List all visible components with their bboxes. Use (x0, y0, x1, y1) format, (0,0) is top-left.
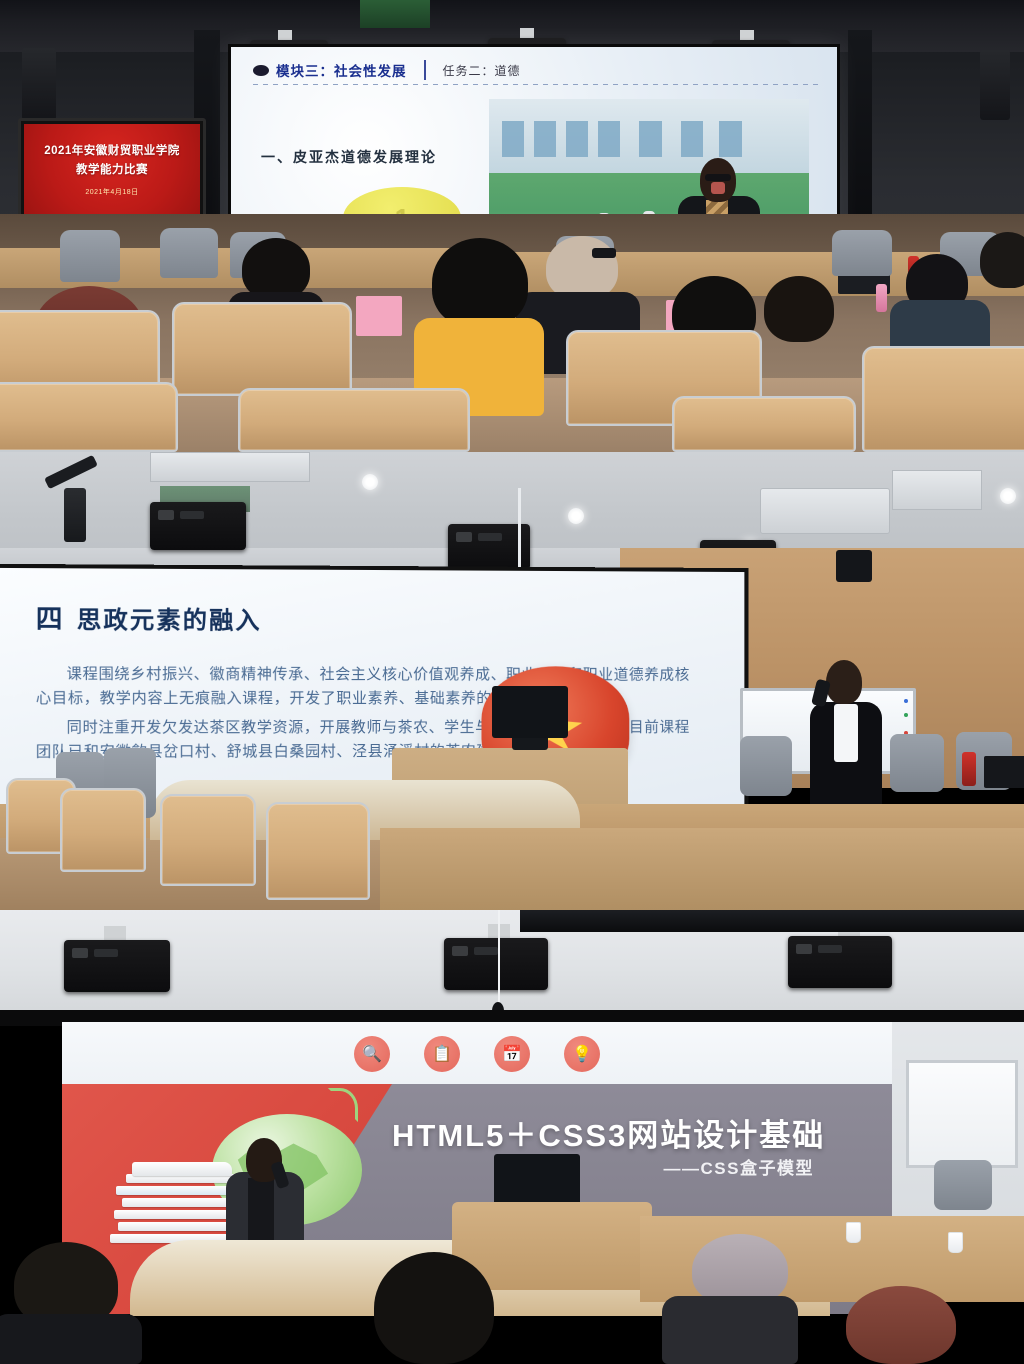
panel2-wall-speaker (836, 550, 872, 582)
slide1-task-subtitle: 任务二：道德 (443, 62, 521, 79)
panel3-ceiling-screen-edge (520, 910, 1024, 932)
photo-window (639, 121, 661, 156)
panel3-attendee-head-red-hair (846, 1286, 956, 1364)
magnifier-icon: 🔍 (354, 1036, 390, 1072)
photo-window (719, 121, 741, 156)
panel2-front-desk (380, 828, 1024, 910)
panel1-chair-gray (60, 230, 120, 282)
wall-pillar-right (848, 30, 872, 220)
slide2-heading-number: 四 (36, 599, 65, 637)
whiteboard-marker-dot (904, 699, 908, 703)
panel2-monitor (492, 686, 568, 738)
panel3-ceiling-projector-right (788, 936, 892, 988)
panel3-ceiling-projector-left (64, 940, 170, 992)
panel1-attendee-head (764, 276, 834, 342)
ac-vent-left (150, 452, 310, 482)
panel2-seat-wood (266, 802, 370, 900)
panel-top-social-development: 模块三：社会性发展 任务二：道德 一、皮亚杰道德发展理论 1 (0, 0, 1024, 452)
slide1-dashed-rule (253, 84, 821, 85)
wall-speaker-right (980, 50, 1010, 120)
photo-window (598, 121, 620, 156)
ceiling-downlight (1000, 488, 1016, 504)
panel1-competition-banner: 2021年安徽财贸职业学院 教学能力比赛 2021年4月18日 (18, 118, 206, 220)
panel1-attendee-glasses (592, 248, 616, 258)
slide3-icon-row: 🔍 📋 📅 💡 (62, 1022, 892, 1086)
panel3-attendee-head-long-hair (374, 1252, 494, 1364)
slide1-header: 模块三：社会性发展 任务二：道德 (253, 55, 821, 85)
panel2-seat-wood (160, 794, 256, 886)
slide2-heading-title: 思政元素的融入 (77, 600, 262, 636)
panel3-microphone-cable (498, 910, 500, 1006)
calendar-icon: 📅 (494, 1036, 530, 1072)
slide1-divider (424, 60, 426, 80)
panel2-presenter-shirt (834, 704, 858, 762)
wall-speaker-left (22, 48, 56, 120)
panel1-seat (238, 388, 470, 452)
slide1-section-heading: 一、皮亚杰道德发展理论 (261, 147, 437, 167)
photo-window (534, 121, 556, 156)
panel1-attendee-head-bald (546, 236, 618, 300)
panel2-seat-wood (60, 788, 146, 872)
whiteboard-marker-dot (904, 713, 908, 717)
panel3-paper-cup (948, 1232, 963, 1253)
ceiling-downlight (568, 508, 584, 524)
panel-middle-ideological-elements: 四 思政元素的融入 课程围绕乡村振兴、徽商精神传承、社会主义核心价值观养成、职业… (0, 452, 1024, 910)
panel1-seat (172, 302, 352, 396)
slide1-bullet-icon (253, 65, 269, 76)
panel2-chair (890, 734, 944, 792)
panel1-placard-left (356, 296, 402, 336)
slide1-module-title: 模块三：社会性发展 (276, 60, 407, 80)
brain-idea-icon: 💡 (564, 1036, 600, 1072)
photo-window (502, 121, 524, 156)
photo-collage: 模块三：社会性发展 任务二：道德 一、皮亚杰道德发展理论 1 (0, 0, 1024, 1364)
panel2-laptop (984, 756, 1024, 788)
panel3-ceiling-projector-center (444, 938, 548, 990)
panel2-thermos (962, 752, 976, 786)
panel1-attendee-head-dark (432, 238, 528, 328)
panel1-chair-gray (832, 230, 892, 276)
panel2-ceiling-projector-left (150, 502, 246, 550)
photo-window (681, 121, 703, 156)
panel1-seat (0, 382, 178, 452)
photo-window (566, 121, 588, 156)
banner-line-2: 教学能力比赛 (76, 161, 148, 177)
panel2-chair (740, 736, 792, 796)
panel1-presenter-glasses (705, 174, 731, 181)
panel-bottom-html5-css3: 🔍 📋 📅 💡 HTML5＋CS (0, 910, 1024, 1364)
panel2-presenter-head (826, 660, 862, 704)
panel1-presenter-microphone (711, 182, 725, 194)
panel3-attendee-body (662, 1296, 798, 1364)
panel1-pink-bottle (876, 284, 887, 312)
ac-vent-far-right (892, 470, 982, 510)
panel2-camera (64, 488, 86, 542)
panel1-seat (862, 346, 1024, 452)
banner-line-1: 2021年安徽财贸职业学院 (44, 142, 180, 158)
panel1-chair-gray (160, 228, 218, 278)
panel3-whiteboard (906, 1060, 1018, 1168)
slide2-heading: 四 思政元素的融入 (36, 599, 704, 638)
ac-vent-right (760, 488, 890, 534)
panel3-attendee-body (0, 1314, 142, 1364)
ceiling-light-green-left (360, 0, 430, 28)
ceiling-downlight (362, 474, 378, 490)
slide3-title: HTML5＋CSS3网站设计基础 (392, 1110, 825, 1155)
panel3-paper-cup (846, 1222, 861, 1243)
slide3-open-book (132, 1162, 232, 1176)
slide3-subtitle: ——CSS盒子模型 (664, 1154, 814, 1179)
panel3-chair (934, 1160, 992, 1210)
panel1-seat (672, 396, 856, 452)
clipboard-check-icon: 📋 (424, 1036, 460, 1072)
banner-date: 2021年4月18日 (85, 187, 138, 197)
panel1-attendee-head (980, 232, 1024, 288)
